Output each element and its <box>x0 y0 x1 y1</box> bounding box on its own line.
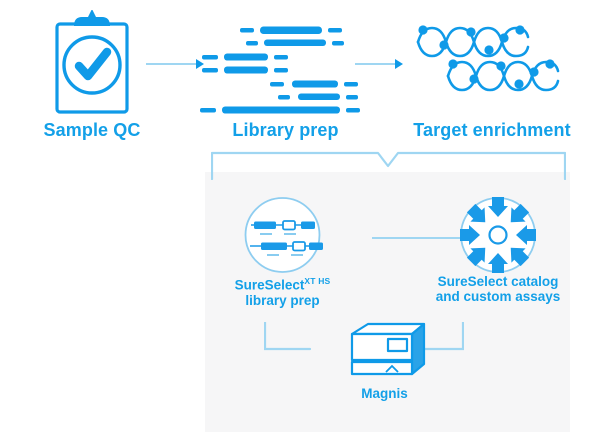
arrow-shaft <box>355 63 395 65</box>
dna-fragments-icon <box>198 10 373 120</box>
node-label-sureselect-library-prep: SureSelectXT HS library prep <box>205 274 360 308</box>
dna-helix-probes-icon <box>392 10 592 120</box>
node-label-sureselect-assays: SureSelect catalog and custom assays <box>418 274 578 304</box>
node-magnis: Magnis <box>312 320 457 401</box>
node-label-line1: SureSelect catalog <box>438 274 559 289</box>
step-label-sample-qc: Sample QC <box>12 120 172 141</box>
arrow-shaft <box>146 63 196 65</box>
node-label-superscript: XT HS <box>304 276 330 286</box>
magnis-instrument-icon <box>312 320 457 382</box>
solutions-bracket <box>211 148 566 180</box>
node-sureselect-library-prep: SureSelectXT HS library prep <box>205 196 360 308</box>
workflow-step-library-prep: Library prep <box>198 10 373 141</box>
workflow-diagram: Sample QC <box>0 0 600 445</box>
node-label-line1-main: SureSelect <box>235 278 305 293</box>
workflow-step-target-enrichment: Target enrichment <box>392 10 592 141</box>
workflow-step-sample-qc: Sample QC <box>12 10 172 141</box>
step-label-library-prep: Library prep <box>198 120 373 141</box>
step-label-target-enrichment: Target enrichment <box>392 120 592 141</box>
dna-library-circle-icon <box>205 196 360 274</box>
node-sureselect-assays: SureSelect catalog and custom assays <box>418 196 578 304</box>
node-label-line2: and custom assays <box>436 289 561 304</box>
arrow-sampleqc-to-libprep <box>146 59 204 69</box>
converging-arrows-circle-icon <box>418 196 578 274</box>
node-label-line2: library prep <box>245 293 319 308</box>
node-label-magnis: Magnis <box>312 386 457 401</box>
